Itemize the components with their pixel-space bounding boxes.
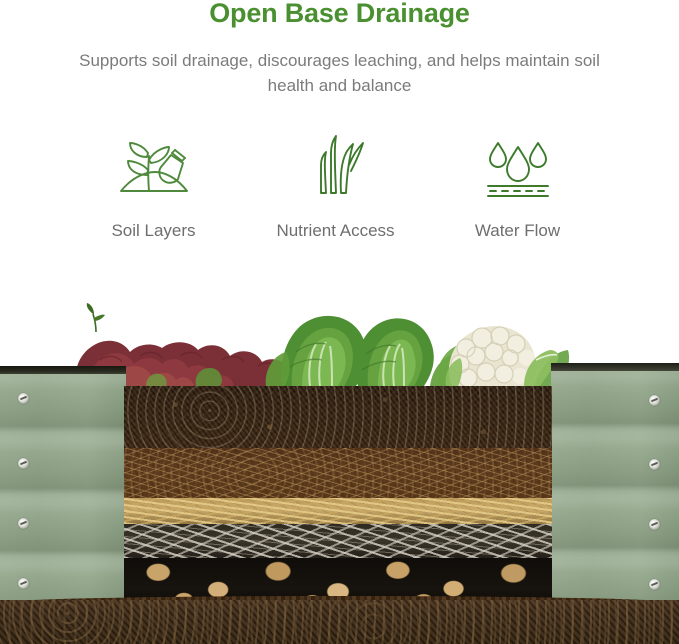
page-title: Open Base Drainage [0,0,679,28]
screw [18,518,29,529]
bed-panel-left [0,366,126,609]
feature-item-soil-layers: Soil Layers [63,134,245,244]
feature-list: Soil Layers Nutrient Access [0,134,679,244]
screw [18,578,29,589]
green-cabbage [266,316,457,386]
feature-item-nutrient-access: Nutrient Access [245,134,427,244]
screw [18,458,29,469]
soil-layer-twigs-sticks [124,524,552,558]
screw [649,579,660,590]
bed-panel-left-body [0,374,126,609]
grass-blades-icon [305,134,367,200]
screw [649,519,660,530]
soil-layer-compost-mulch [124,448,552,498]
cauliflower [437,326,569,387]
feature-item-water-flow: Water Flow [427,134,609,244]
product-feature-graphic: Open Base Drainage Supports soil drainag… [0,0,679,644]
ground-soil [0,600,679,644]
bed-panel-right-body [551,371,679,609]
feature-label: Water Flow [458,218,578,244]
bed-panel-right [551,363,679,609]
feature-label: Nutrient Access [276,218,396,244]
screw [649,395,660,406]
raised-garden-bed-illustration [0,286,679,644]
page-subtitle: Supports soil drainage, discourages leac… [60,48,620,98]
water-droplets-icon [480,134,556,200]
feature-label: Soil Layers [94,218,214,244]
soil-layer-straw [124,498,552,524]
soil-cross-section [124,386,552,609]
screw [649,459,660,470]
soil-layer-topsoil [124,386,552,448]
plant-shovel-icon [115,134,193,200]
screw [18,393,29,404]
